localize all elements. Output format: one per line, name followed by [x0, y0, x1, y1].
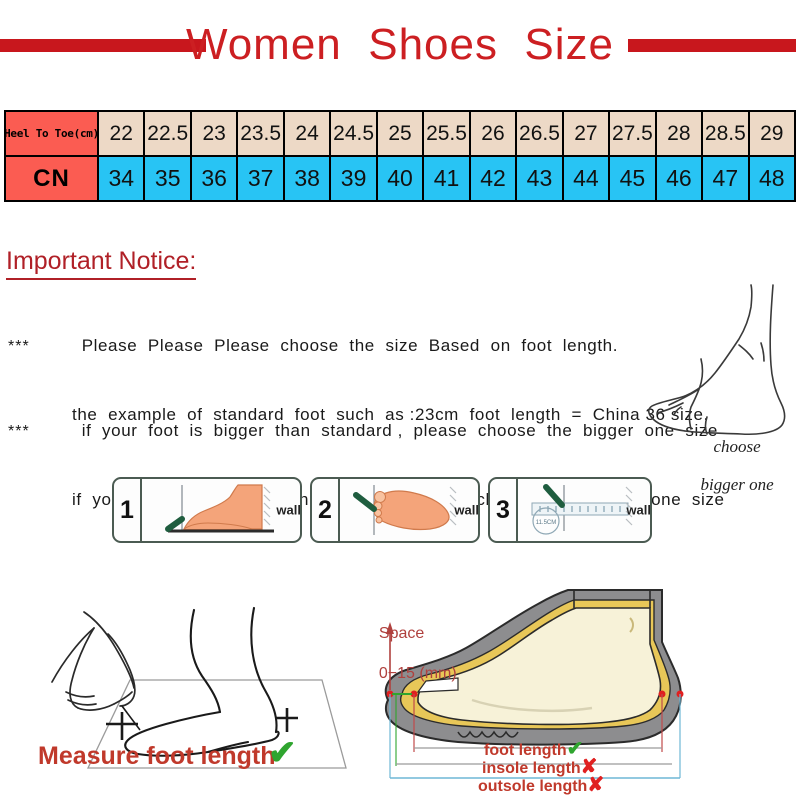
row-header-cn: CN: [6, 157, 99, 200]
cell-cn: 46: [657, 157, 703, 200]
cell-cm: 24: [285, 112, 331, 155]
step-illustration-side-foot: wall: [142, 479, 302, 541]
notice-line: if your foot is bigger than standard , p…: [82, 421, 718, 440]
page-header: Women Shoes Size: [0, 0, 800, 95]
cell-cm: 26.5: [517, 112, 563, 155]
cell-cn: 45: [610, 157, 656, 200]
cell-cm: 29: [750, 112, 794, 155]
row-header-label: Heel To Toe(cm): [4, 127, 99, 140]
foot-sketch-caption: choose bigger one: [692, 418, 774, 494]
space-line-1: Space: [379, 625, 424, 642]
cell-cm: 23: [192, 112, 238, 155]
space-measurement-label: Space 0−15 (mm): [370, 604, 457, 684]
row-header-heel-to-toe: Heel To Toe(cm): [6, 112, 99, 155]
label-text: outsole length: [478, 778, 587, 795]
step-illustration-top-foot: wall: [340, 479, 480, 541]
caption-line-2: bigger one: [701, 475, 774, 494]
page-title: Women Shoes Size: [0, 14, 800, 76]
cell-cm: 25.5: [424, 112, 470, 155]
wall-label: wall: [276, 503, 301, 518]
step-number: 2: [312, 479, 340, 541]
cell-cn: 44: [564, 157, 610, 200]
step-panel-3: 3 11.5CM: [488, 477, 652, 543]
cell-cn: 37: [238, 157, 284, 200]
table-row-heel-to-toe: Heel To Toe(cm) 22 22.5 23 23.5 24 24.5 …: [6, 112, 794, 157]
notice-line: Please Please Please choose the size Bas…: [82, 336, 618, 355]
cell-cn: 39: [331, 157, 377, 200]
wall-label: wall: [626, 503, 651, 518]
cell-cn: 35: [145, 157, 191, 200]
cell-cm: 27.5: [610, 112, 656, 155]
space-line-2: 0−15 (mm): [379, 665, 457, 682]
cell-cm: 22: [99, 112, 145, 155]
cell-cn: 34: [99, 157, 145, 200]
shoe-length-labels: foot length✔ insole length✘ outsole leng…: [484, 740, 610, 794]
cell-cn: 38: [285, 157, 331, 200]
cell-cm: 23.5: [238, 112, 284, 155]
cell-cn: 47: [703, 157, 749, 200]
cell-cn: 42: [471, 157, 517, 200]
green-check-icon: ✔: [268, 736, 297, 770]
measurement-steps: 1 wall 2: [112, 477, 652, 543]
step-panel-1: 1 wall: [112, 477, 302, 543]
cell-cm: 24.5: [331, 112, 377, 155]
cell-cn: 48: [750, 157, 794, 200]
step-number: 1: [114, 479, 142, 541]
cell-cm: 22.5: [145, 112, 191, 155]
step-illustration-ruler: 11.5CM wall: [518, 479, 652, 541]
label-text: insole length: [482, 760, 581, 777]
cell-cm: 26: [471, 112, 517, 155]
step-panel-2: 2 wall: [310, 477, 480, 543]
cell-cm: 25: [378, 112, 424, 155]
caption-line-1: choose: [713, 437, 760, 456]
table-row-cn: CN 34 35 36 37 38 39 40 41 42 43 44 45 4…: [6, 157, 794, 200]
red-cross-icon: ✘: [587, 774, 604, 796]
cell-cn: 40: [378, 157, 424, 200]
notice-bullet-stars: ***: [8, 423, 30, 440]
cell-cm: 27: [564, 112, 610, 155]
row-header-label: CN: [33, 165, 70, 193]
measure-foot-length-label: Measure foot length: [38, 742, 276, 771]
cell-cn: 36: [192, 157, 238, 200]
notice-bullet-stars: ***: [8, 338, 30, 355]
label-text: foot length: [484, 742, 567, 759]
cell-cn: 41: [424, 157, 470, 200]
step-number: 3: [490, 479, 518, 541]
cell-cn: 43: [517, 157, 563, 200]
label-outsole-length: outsole length✘: [478, 776, 604, 794]
cell-cm: 28: [657, 112, 703, 155]
important-notice-heading: Important Notice:: [6, 247, 196, 280]
ruler-measure-value: 11.5CM: [536, 520, 557, 526]
cell-cm: 28.5: [703, 112, 749, 155]
size-chart-table: Heel To Toe(cm) 22 22.5 23 23.5 24 24.5 …: [4, 110, 796, 202]
wall-label: wall: [454, 503, 479, 518]
